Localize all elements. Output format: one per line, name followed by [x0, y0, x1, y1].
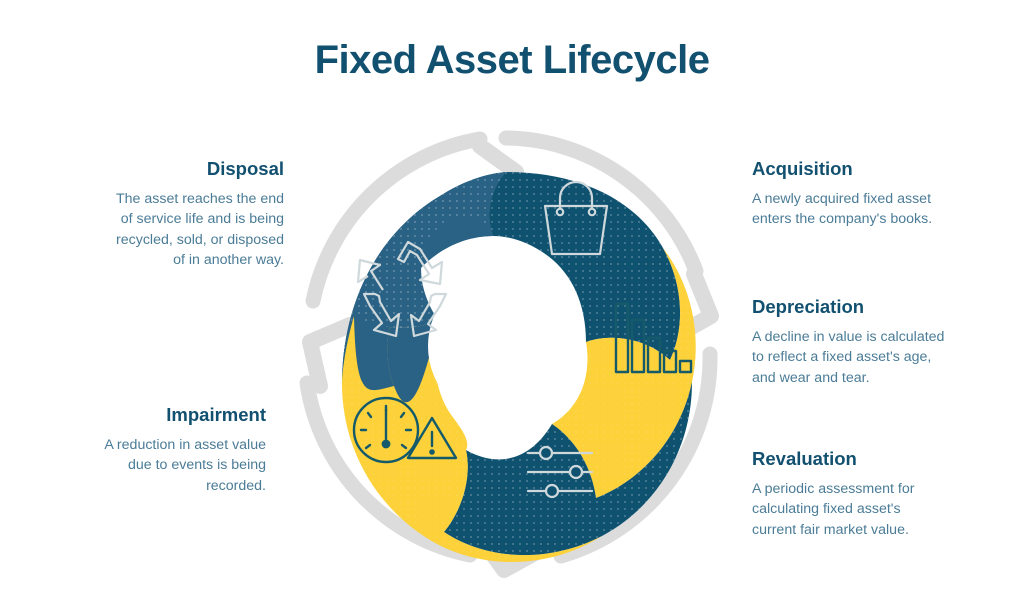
stage-heading-depreciation: Depreciation [752, 296, 948, 318]
stage-heading-disposal: Disposal [112, 158, 284, 180]
stage-block-impairment: Impairment A reduction in asset value du… [86, 404, 266, 496]
stage-body-depreciation: A decline in value is calculated to refl… [752, 327, 948, 387]
stage-block-acquisition: Acquisition A newly acquired fixed asset… [752, 158, 938, 230]
stage-block-revaluation: Revaluation A periodic assessment for ca… [752, 448, 948, 540]
stage-block-disposal: Disposal The asset reaches the end of se… [112, 158, 284, 270]
lifecycle-wheel [280, 108, 732, 580]
stage-heading-revaluation: Revaluation [752, 448, 948, 470]
stage-body-impairment: A reduction in asset value due to events… [86, 435, 266, 495]
stage-heading-acquisition: Acquisition [752, 158, 938, 180]
stage-body-disposal: The asset reaches the end of service lif… [112, 189, 284, 270]
stage-heading-impairment: Impairment [86, 404, 266, 426]
infographic-page: Fixed Asset Lifecycle [0, 0, 1024, 597]
wheel-svg [280, 108, 732, 580]
stage-block-depreciation: Depreciation A decline in value is calcu… [752, 296, 948, 388]
wheel-hub [428, 268, 584, 424]
page-title: Fixed Asset Lifecycle [0, 38, 1024, 83]
stage-body-acquisition: A newly acquired fixed asset enters the … [752, 189, 938, 229]
stage-body-revaluation: A periodic assessment for calculating fi… [752, 479, 948, 539]
